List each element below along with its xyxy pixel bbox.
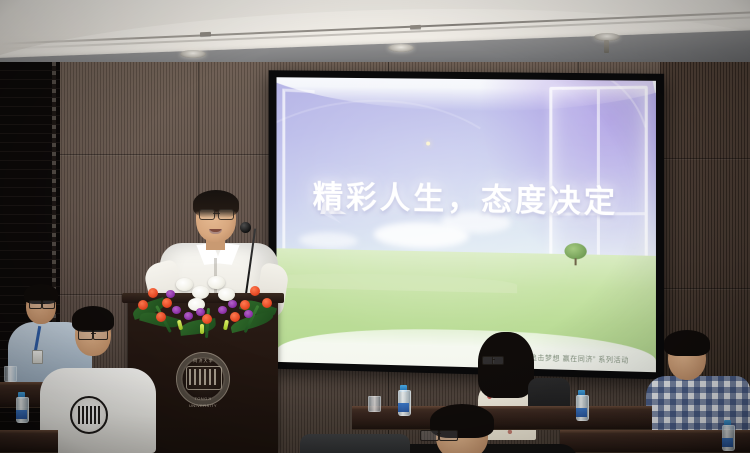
emblem-bottom-text: TONGJI UNIVERSITY bbox=[181, 395, 225, 402]
chair bbox=[300, 434, 410, 453]
rose-flower bbox=[250, 286, 260, 296]
water-bottle bbox=[722, 420, 733, 451]
eyeglasses-icon bbox=[199, 209, 234, 218]
tshirt-graphic-inner bbox=[78, 406, 100, 424]
slide-title: 精彩人生，态度决定 bbox=[277, 171, 656, 222]
bottle-label bbox=[16, 410, 27, 419]
lens-right bbox=[492, 356, 504, 365]
desk-edge bbox=[352, 406, 652, 410]
projection-screen[interactable]: 精彩人生，态度决定 “追击梦想 赢在同济” 系列活动 bbox=[277, 77, 656, 372]
yellow-sprig bbox=[200, 324, 204, 334]
rose-flower bbox=[162, 298, 172, 308]
orchid-flower bbox=[172, 306, 181, 314]
emblem-glyph bbox=[189, 369, 217, 385]
microphone-icon bbox=[240, 222, 251, 233]
rose-flower bbox=[262, 298, 272, 308]
orchid-flower bbox=[244, 310, 253, 318]
rose-flower bbox=[148, 288, 158, 298]
eyeglasses-icon bbox=[482, 356, 504, 363]
university-emblem: 同 济 大 学 TONGJI UNIVERSITY bbox=[176, 352, 230, 406]
lecture-hall-photo: 精彩人生，态度决定 “追击梦想 赢在同济” 系列活动 同 济 大 学 TONGJ… bbox=[0, 0, 750, 453]
tree-crown bbox=[564, 243, 586, 260]
eyeglasses-icon bbox=[78, 330, 108, 338]
podium-flower-arrangement bbox=[132, 276, 284, 338]
tree-icon bbox=[564, 243, 586, 266]
lily-flower bbox=[176, 278, 193, 291]
lens-right bbox=[218, 209, 234, 220]
downlight-icon bbox=[388, 44, 414, 52]
glasses-bridge bbox=[40, 303, 45, 304]
sprinkler-icon bbox=[604, 40, 609, 53]
rose-flower bbox=[156, 312, 166, 322]
bottle-label bbox=[722, 438, 733, 447]
glasses-bridge bbox=[91, 333, 96, 334]
tshirt-graphic bbox=[70, 396, 108, 434]
id-badge bbox=[32, 350, 43, 364]
orchid-flower bbox=[228, 300, 237, 308]
orchid-flower bbox=[184, 312, 193, 320]
desk-edge bbox=[0, 430, 58, 434]
lens-left bbox=[29, 300, 42, 309]
glasses-bridge bbox=[437, 433, 441, 434]
desk-row-front-left bbox=[0, 430, 58, 453]
eyeglasses-icon bbox=[29, 300, 55, 307]
glasses-bridge bbox=[213, 213, 220, 214]
orchid-flower bbox=[196, 308, 205, 316]
emblem-top-text: 同 济 大 学 bbox=[191, 358, 215, 364]
desk-row-middle-right bbox=[352, 406, 652, 430]
lens-left bbox=[420, 430, 439, 441]
tree-trunk bbox=[574, 259, 576, 266]
glasses-bridge bbox=[492, 359, 495, 360]
lens-left bbox=[78, 330, 93, 340]
lens-left bbox=[199, 209, 215, 220]
rail-clip-icon bbox=[410, 25, 421, 29]
rose-flower bbox=[240, 300, 250, 310]
water-bottle bbox=[398, 385, 409, 416]
rail-clip-icon bbox=[200, 32, 211, 36]
lily-flower bbox=[208, 276, 225, 289]
lens-right bbox=[93, 330, 108, 340]
person-hair-long bbox=[478, 332, 534, 398]
rose-flower bbox=[230, 312, 240, 322]
drinking-glass bbox=[368, 396, 381, 412]
water-bottle bbox=[16, 392, 27, 423]
lens-right bbox=[439, 430, 458, 441]
panel-seam bbox=[660, 288, 750, 289]
rose-flower bbox=[138, 300, 148, 310]
eyeglasses-icon bbox=[420, 430, 458, 439]
panel-seam bbox=[660, 158, 750, 159]
orchid-flower bbox=[218, 306, 227, 314]
yellow-sprig bbox=[177, 320, 183, 331]
orchid-flower bbox=[166, 290, 175, 298]
rose-flower bbox=[202, 314, 212, 324]
drinking-glass bbox=[4, 366, 17, 382]
bottle-label bbox=[576, 408, 587, 417]
person-hair bbox=[664, 330, 710, 356]
projection-screen-bezel: 精彩人生，态度决定 “追击梦想 赢在同济” 系列活动 bbox=[269, 70, 664, 379]
water-bottle bbox=[576, 390, 587, 421]
lens-right bbox=[42, 300, 55, 309]
person-hair bbox=[72, 306, 114, 332]
downlight-icon bbox=[180, 50, 206, 58]
bottle-label bbox=[398, 403, 409, 412]
yellow-sprig bbox=[223, 320, 229, 331]
